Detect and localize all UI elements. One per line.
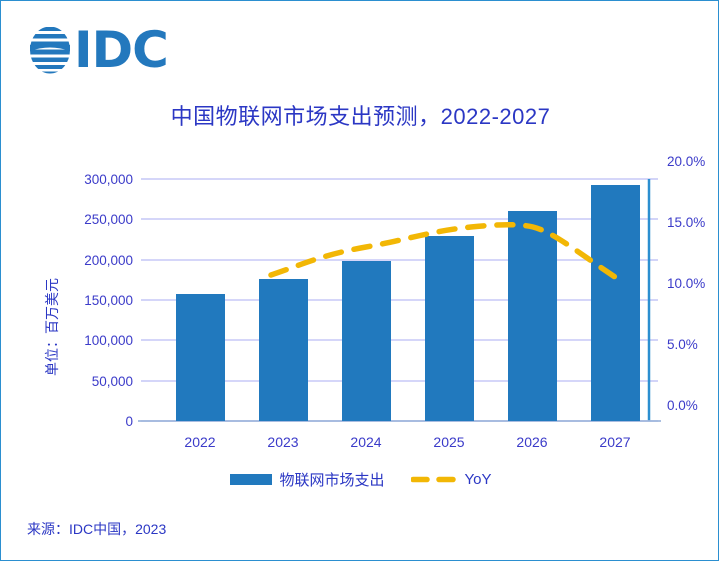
globe-icon: [27, 25, 73, 75]
right-tick-label: 10.0%: [667, 276, 705, 291]
left-tick-label: 0: [125, 414, 133, 429]
right-tick-label: 20.0%: [667, 154, 705, 169]
right-tick-label: 5.0%: [667, 337, 698, 352]
right-axis-ticks: [649, 179, 658, 421]
x-tick-label: 2027: [599, 434, 630, 450]
chart-plot-area: 300,000 250,000 200,000 150,000 100,000 …: [1, 151, 719, 451]
x-tick-label: 2025: [433, 434, 464, 450]
x-axis-tick-labels: 2022 2023 2024 2025 2026 2027: [184, 434, 630, 450]
x-tick-label: 2024: [350, 434, 381, 450]
bar-2027[interactable]: [591, 185, 640, 421]
legend-bar-label: 物联网市场支出: [280, 469, 385, 490]
bar-2026[interactable]: [508, 211, 557, 421]
legend-dashed-line-icon: [411, 474, 457, 485]
left-tick-label: 200,000: [84, 253, 133, 268]
x-tick-label: 2026: [516, 434, 547, 450]
idc-logo-wordmark: IDC: [74, 25, 168, 75]
left-tick-label: 250,000: [84, 212, 133, 227]
source-note: 来源：IDC中国，2023: [27, 519, 166, 539]
x-tick-label: 2022: [184, 434, 215, 450]
y-axis-title: 单位：百万美元: [44, 278, 60, 376]
bar-2024[interactable]: [342, 261, 391, 421]
right-tick-label: 15.0%: [667, 215, 705, 230]
idc-logo: IDC: [27, 23, 168, 77]
x-tick-label: 2023: [267, 434, 298, 450]
legend-line-label: YoY: [465, 471, 492, 488]
bar-series: [176, 185, 640, 421]
chart-title: 中国物联网市场支出预测，2022-2027: [1, 99, 719, 131]
bar-2023[interactable]: [259, 279, 308, 421]
left-tick-label: 150,000: [84, 293, 133, 308]
combo-chart: 300,000 250,000 200,000 150,000 100,000 …: [1, 151, 719, 451]
bar-2022[interactable]: [176, 294, 225, 421]
legend-item-bar[interactable]: 物联网市场支出: [230, 469, 385, 490]
bar-2025[interactable]: [425, 236, 474, 421]
chart-legend: 物联网市场支出 YoY: [1, 469, 719, 490]
left-tick-label: 300,000: [84, 172, 133, 187]
left-axis-ticks: [141, 179, 150, 421]
left-tick-label: 100,000: [84, 333, 133, 348]
left-axis-tick-labels: 300,000 250,000 200,000 150,000 100,000 …: [84, 172, 133, 429]
legend-bar-swatch-icon: [230, 474, 272, 485]
chart-page: IDC 中国物联网市场支出预测，2022-2027: [0, 0, 719, 561]
legend-item-line[interactable]: YoY: [411, 471, 492, 488]
right-tick-label: 0.0%: [667, 398, 698, 413]
right-axis-tick-labels: 20.0% 15.0% 10.0% 5.0% 0.0%: [667, 154, 705, 413]
left-tick-label: 50,000: [92, 374, 133, 389]
